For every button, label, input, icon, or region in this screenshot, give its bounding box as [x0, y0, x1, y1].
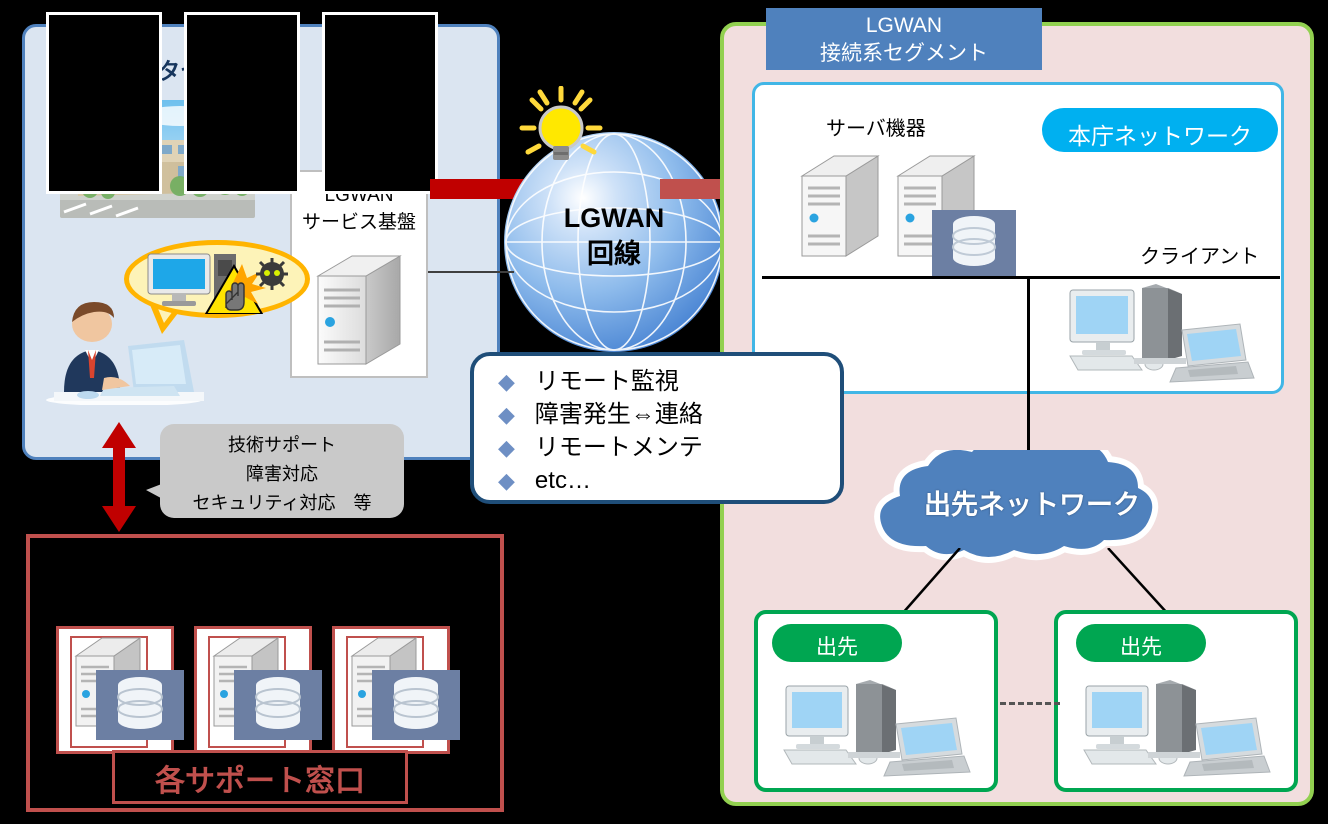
bidirectional-red-arrow — [100, 422, 138, 532]
support-callout-line-1: 技術サポート — [160, 424, 404, 460]
client-label: クライアント — [1140, 240, 1259, 269]
network-bus-drop-line — [1027, 276, 1030, 462]
feature-item-3: ◆ リモートメンテ — [498, 431, 840, 464]
lightbulb-icon — [518, 86, 604, 172]
head-office-network-badge-text: 本庁ネットワーク — [1042, 117, 1278, 151]
feature-item-1-label: リモート監視 — [535, 365, 679, 398]
branch-interlink-dashed-line — [1000, 702, 1060, 705]
database-icon-2 — [234, 670, 322, 740]
client-pc-set — [1064, 284, 1256, 393]
lgwan-segment-header-text: LGWAN 接続系セグメント — [766, 12, 1042, 68]
database-icon-1 — [96, 670, 184, 740]
lgwan-base-line2: サービス基盤 — [290, 209, 428, 236]
segment-server-icon-1 — [798, 152, 884, 267]
feature-item-2: ◆ 障害発生⇔連絡 — [498, 398, 840, 431]
branch-badge-text-2: 出先 — [1076, 631, 1206, 661]
support-callout-line-2: 障害対応 — [160, 460, 404, 489]
cloud-link-right — [1108, 548, 1168, 614]
feature-item-4-label: etc… — [535, 464, 591, 497]
support-label: 各サポート窓口 — [112, 756, 408, 800]
feature-item-3-label: リモートメンテ — [535, 431, 703, 464]
feature-item-4: ◆ etc… — [498, 464, 840, 497]
branch-pc-set-2 — [1080, 680, 1276, 785]
branch-network-label: 出先ネットワーク — [834, 483, 1230, 522]
diamond-bullet-icon-2: ◆ — [498, 398, 515, 431]
lgwan-globe-label: LGWAN 回線 — [504, 200, 724, 272]
feature-item-1: ◆ リモート監視 — [498, 365, 840, 398]
diamond-bullet-icon-1: ◆ — [498, 365, 515, 398]
support-callout: 技術サポート 障害対応 セキュリティ対応 等 — [160, 424, 404, 518]
lgwan-base-connector-line — [428, 271, 514, 273]
support-window-frame-2 — [184, 12, 300, 194]
lgwan-globe-line1: LGWAN — [504, 200, 724, 236]
database-icon-3 — [372, 670, 460, 740]
diamond-bullet-icon-4: ◆ — [498, 464, 515, 497]
features-list: ◆ リモート監視 ◆ 障害発生⇔連絡 ◆ リモートメンテ ◆ etc… — [474, 356, 840, 497]
lgwan-base-server-icon — [312, 250, 408, 373]
operator-at-desk-illustration — [44, 300, 214, 405]
cloud-link-left — [902, 548, 960, 614]
lgwan-globe-line2: 回線 — [504, 236, 724, 272]
branch-badge-text-1: 出先 — [772, 631, 902, 661]
features-callout: ◆ リモート監視 ◆ 障害発生⇔連絡 ◆ リモートメンテ ◆ etc… — [470, 352, 844, 504]
segment-database-icon — [932, 210, 1016, 276]
server-equipment-label: サーバ機器 — [826, 112, 926, 141]
network-bus-line — [762, 276, 1280, 279]
feature-item-2-label: 障害発生⇔連絡 — [535, 398, 703, 431]
support-window-frame-3 — [322, 12, 438, 194]
diamond-bullet-icon-3: ◆ — [498, 431, 515, 464]
segment-header-line1: LGWAN — [766, 12, 1042, 40]
support-window-frame-1 — [46, 12, 162, 194]
support-callout-line-3: セキュリティ対応 等 — [160, 489, 404, 518]
segment-header-line2: 接続系セグメント — [766, 40, 1042, 68]
branch-pc-set-1 — [780, 680, 976, 785]
